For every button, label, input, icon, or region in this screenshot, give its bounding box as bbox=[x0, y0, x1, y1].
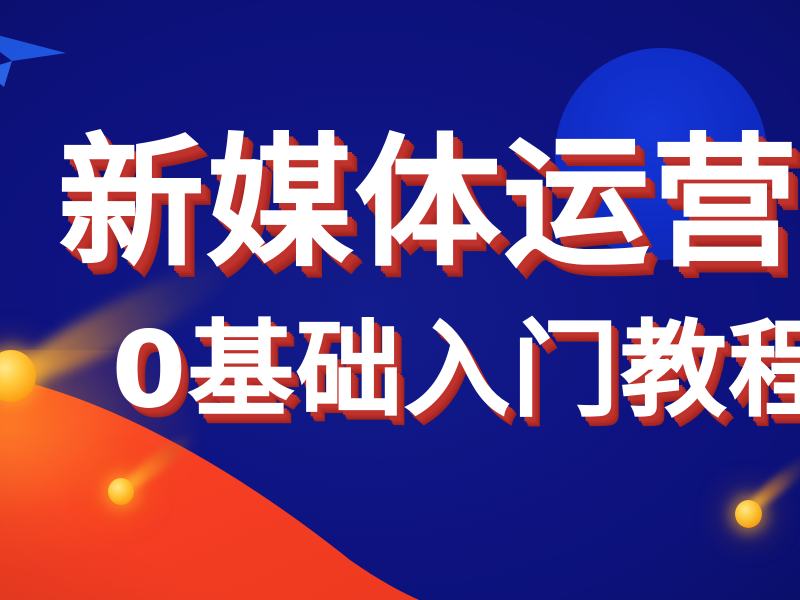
headline-group: 新媒体运营 0基础入门教程 bbox=[0, 0, 800, 600]
poster-canvas: 新媒体运营 0基础入门教程 bbox=[0, 0, 800, 600]
poster-title-secondary: 0基础入门教程 bbox=[112, 318, 800, 422]
poster-title-primary: 新媒体运营 bbox=[58, 133, 800, 275]
